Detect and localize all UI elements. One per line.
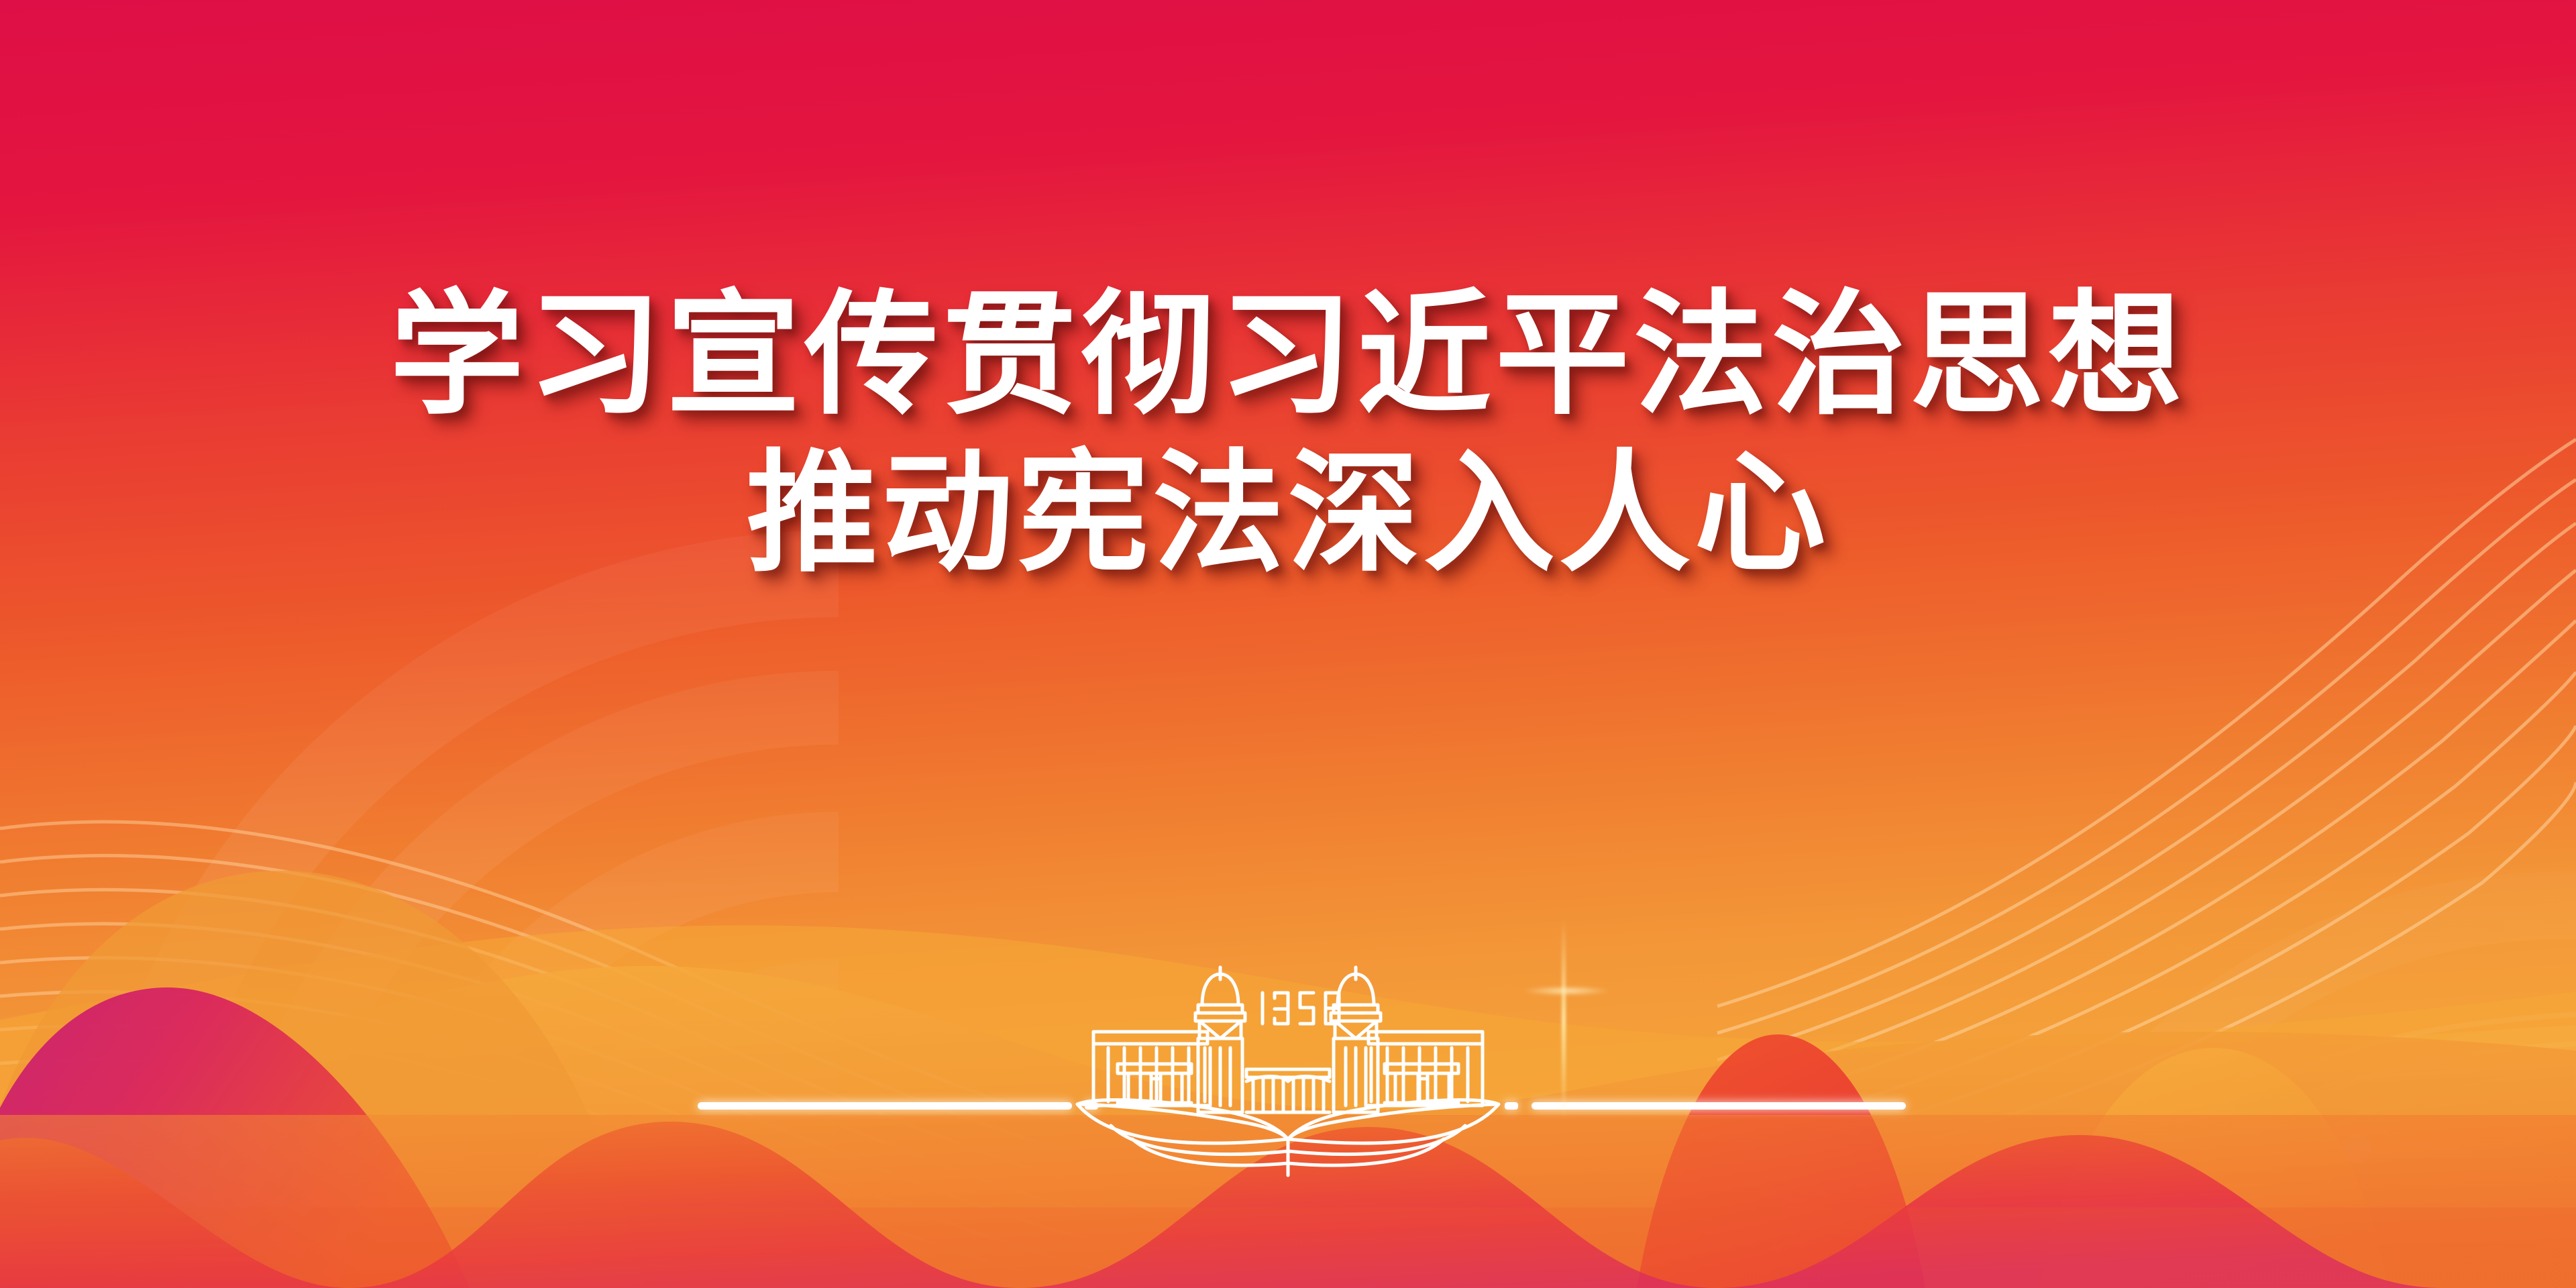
headline-line-1: 学习宣传贯彻习近平法治思想 [0,282,2576,432]
emblem-year-1958 [1263,993,1339,1024]
banner-canvas: 学习宣传贯彻习近平法治思想 推动宪法深入人心 [0,0,2576,1288]
decorative-rule-left [698,1102,1072,1110]
institution-building-emblem [1053,926,1523,1181]
building-emblem-svg [1053,926,1523,1181]
right-wing-roof [1368,1032,1483,1044]
book-outer-right [1288,1100,1499,1139]
book-outer-left [1077,1100,1288,1139]
headline-block: 学习宣传贯彻习近平法治思想 推动宪法深入人心 [0,282,2576,589]
light-flare-vertical [1562,919,1566,1120]
right-tower-windows [1346,1048,1366,1106]
light-flare-horizontal [1523,986,1610,996]
left-tower-belfry-x [1199,1021,1241,1038]
left-wing-roof [1093,1032,1207,1044]
right-tower-belfry-x [1335,1021,1377,1038]
headline-line-2: 推动宪法深入人心 [0,441,2576,589]
left-tower-windows [1210,1048,1230,1106]
right-tower-belfry [1335,1021,1377,1038]
bottom-shade [0,1207,2576,1288]
decorative-rule-right [1532,1102,1906,1110]
left-tower-belfry [1199,1021,1241,1038]
